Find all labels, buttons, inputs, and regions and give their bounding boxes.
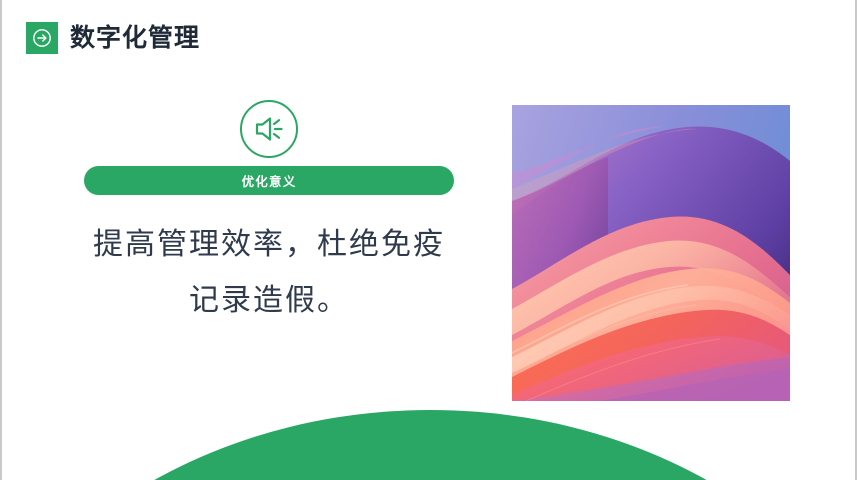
slide-canvas: 数字化管理 优化意义 提高管理效率，杜绝免疫记录造假。 [0,0,857,480]
status-badge: 优化意义 [84,166,454,195]
slide-header: 数字化管理 [26,22,200,54]
abstract-gradient-waves-image [512,105,790,401]
circle-arrow-right-icon [26,22,58,54]
page-title: 数字化管理 [70,26,200,51]
speaker-sound-icon [240,100,298,158]
body-paragraph: 提高管理效率，杜绝免疫记录造假。 [84,217,454,328]
bottom-green-arc [0,410,857,480]
content-column: 优化意义 提高管理效率，杜绝免疫记录造假。 [84,100,454,328]
